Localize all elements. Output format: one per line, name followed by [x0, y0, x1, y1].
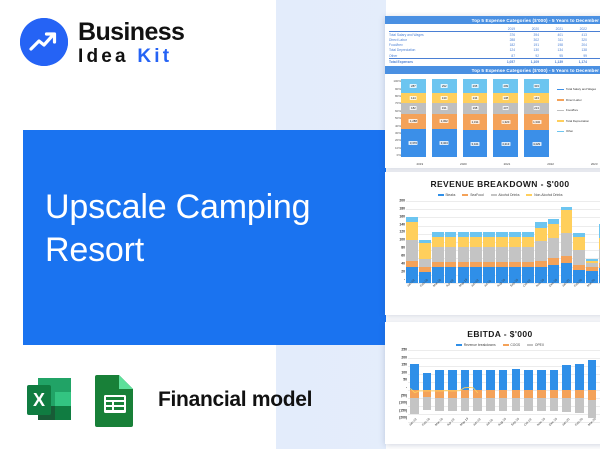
ebitda-chart-bars [408, 350, 600, 422]
legend-label: Non-Alcohol Drinks [534, 193, 562, 197]
ebitda-card[interactable]: EBITDA - $'000 Revenue breakdownsCOGSOPE… [385, 322, 600, 444]
table-row: Total Expenses1,0571,1091,1391,1741,220 [389, 59, 600, 65]
stacked-bar [406, 201, 418, 283]
axis-tick: 2019 [401, 162, 439, 166]
poster-canvas: Business Idea Kit Upscale Camping Resort… [0, 0, 600, 449]
stacked-bar [588, 350, 597, 422]
stacked-bar: 2921301911,3023,404 [432, 79, 457, 157]
bar-value-label: 198 [472, 106, 479, 110]
stacked-bar: 2991382071,3204,213 [493, 79, 518, 157]
axis-tick: 250 [389, 349, 407, 352]
brand-line-business: Business [78, 20, 184, 45]
stacked-bar [486, 350, 495, 422]
bar-value-label: 292 [441, 84, 448, 88]
stacked-bar [470, 201, 482, 283]
bar-value-label: 1,332 [532, 120, 541, 124]
bar-value-label: 295 [472, 84, 479, 88]
bar-value-label: 287 [410, 84, 417, 88]
expense-categories-card[interactable]: Top 5 Expense Categories ($'000) - 5 Yea… [385, 16, 600, 168]
axis-tick: 180 [389, 207, 405, 210]
legend-label: SeaFood [470, 193, 483, 197]
brand-kit-text: Kit [137, 46, 172, 67]
legend-label: Other [566, 129, 573, 133]
legend-item: Other [557, 129, 600, 133]
financial-model-label: Financial model [158, 388, 312, 412]
expense-chart-x-axis: 20192020202120222023 [401, 162, 600, 166]
legend-swatch [557, 89, 564, 90]
legend-swatch [491, 194, 497, 196]
stacked-bar [473, 350, 482, 422]
legend-label: OPEX [535, 343, 544, 347]
legend-swatch [526, 194, 532, 196]
page-title: Upscale Camping Resort [45, 186, 385, 272]
axis-tick: 160 [389, 215, 405, 218]
axis-tick: - [389, 278, 405, 281]
legend-item: COGS [503, 343, 521, 347]
axis-tick: 30% [387, 131, 401, 135]
revenue-chart-bars [406, 201, 600, 283]
axis-tick: 2020 [445, 162, 483, 166]
axis-tick: 2021 [488, 162, 526, 166]
stacked-bar [512, 350, 521, 422]
legend-swatch [557, 131, 564, 132]
legend-item: Total Salary and Wages [557, 87, 600, 91]
ebitda-chart-legend: Revenue breakdownsCOGSOPEX [385, 339, 600, 347]
stacked-bar [586, 201, 598, 283]
axis-tick: 0% [387, 153, 401, 157]
stacked-bar [524, 350, 533, 422]
stacked-bar [509, 201, 521, 283]
bar-value-label: 299 [502, 84, 509, 88]
legend-swatch [527, 344, 533, 346]
axis-tick: 40% [387, 124, 401, 128]
axis-tick: 60% [387, 109, 401, 113]
axis-tick: - [389, 387, 407, 390]
legend-swatch [557, 99, 564, 100]
legend-item: Revenue breakdowns [456, 343, 496, 347]
axis-tick: 100% [387, 79, 401, 83]
axis-tick: 90% [387, 87, 401, 91]
axis-tick: 20% [387, 138, 401, 142]
legend-label: Alcohol Drinks [498, 193, 519, 197]
bar-value-label: 138 [502, 96, 509, 100]
axis-tick: (200) [389, 417, 407, 420]
brand-wordmark: Business Idea Kit [78, 18, 184, 66]
axis-tick: 10% [387, 146, 401, 150]
legend-item: Alcohol Drinks [491, 193, 520, 197]
legend-item: Non-Alcohol Drinks [526, 193, 562, 197]
revenue-chart-title: REVENUE BREAKDOWN - $'000 [385, 172, 600, 189]
legend-item: Direct Labor [557, 98, 600, 102]
expense-table: 20192020202120222023Total Salary and Wag… [385, 24, 600, 66]
legend-label: Food/bev [566, 108, 578, 112]
legend-swatch [557, 110, 564, 111]
stacked-bar [496, 201, 508, 283]
bar-value-label: 182 [410, 106, 417, 110]
revenue-chart-y-axis: 20018016014012010080604020- [389, 201, 405, 283]
stacked-bar [419, 201, 431, 283]
stacked-bar [537, 350, 546, 422]
stacked-bar [562, 350, 571, 422]
bar-value-label: 1,311 [471, 120, 480, 124]
legend-label: Revenue breakdowns [464, 343, 496, 347]
brand-line-idea-kit: Idea Kit [78, 47, 184, 66]
axis-tick: 60 [389, 255, 405, 258]
stacked-bar [548, 201, 560, 283]
revenue-breakdown-card[interactable]: REVENUE BREAKDOWN - $'000 SteaksSeaFoodA… [385, 172, 600, 315]
axis-tick: 100 [389, 239, 405, 242]
revenue-chart-legend: SteaksSeaFoodAlcohol DrinksNon-Alcohol D… [385, 189, 600, 197]
bar-value-label: 1,288 [409, 119, 418, 123]
bar-value-label: 207 [502, 106, 509, 110]
legend-swatch [456, 344, 462, 346]
stacked-bar [550, 350, 559, 422]
axis-tick: (100) [389, 402, 407, 405]
stacked-bar [435, 350, 444, 422]
axis-tick: 2023 [575, 162, 600, 166]
stacked-bar: 2951341981,3113,441 [463, 79, 488, 157]
svg-text:X: X [33, 390, 45, 410]
stacked-bar [410, 350, 419, 422]
axis-tick: 20 [389, 270, 405, 273]
bar-value-label: 130 [441, 96, 448, 100]
brand-logo: Business Idea Kit [20, 18, 184, 66]
stacked-bar [575, 350, 584, 422]
axis-tick: 100 [389, 371, 407, 374]
stacked-bar [535, 201, 547, 283]
legend-swatch [557, 120, 564, 121]
axis-tick: 80 [389, 247, 405, 250]
bar-value-label: 143 [533, 96, 540, 100]
stacked-bar [448, 350, 457, 422]
legend-item: Steaks [438, 193, 456, 197]
expense-stacked-chart: 100%90%80%70%60%50%40%30%20%10%0% 287124… [385, 75, 600, 167]
bar-value-label: 124 [410, 96, 417, 100]
axis-tick: 40 [389, 262, 405, 265]
bar-value-label: 4,429 [532, 142, 541, 146]
axis-tick: 200 [389, 200, 405, 203]
axis-tick: 200 [389, 356, 407, 359]
legend-label: Direct Labor [566, 98, 582, 102]
ebitda-chart-y-axis: 25020015010050-(50)(100)(150)(200) [389, 350, 407, 422]
format-availability-row: X Financial model [22, 372, 312, 428]
bar-value-label: 3,376 [409, 141, 418, 145]
axis-tick: (50) [389, 394, 407, 397]
bar-value-label: 191 [441, 106, 448, 110]
expense-chart-plot: 2871241821,2883,3762921301911,3023,40429… [401, 79, 549, 157]
axis-tick: 70% [387, 101, 401, 105]
axis-tick: 120 [389, 231, 405, 234]
legend-label: Steaks [445, 193, 455, 197]
stacked-bar [458, 201, 470, 283]
axis-tick: 2022 [532, 162, 570, 166]
expense-chart-title: Top 5 Expense Categories ($'000) - 5 Yea… [385, 66, 600, 74]
bar-value-label: 4,213 [501, 142, 510, 146]
ebitda-chart-title: EBITDA - $'000 [385, 322, 600, 339]
bar-value-label: 1,320 [501, 120, 510, 124]
stacked-bar [499, 350, 508, 422]
bar-value-label: 213 [533, 106, 540, 110]
growth-arrow-circle-icon [20, 18, 68, 66]
stacked-bar [423, 350, 432, 422]
legend-label: COGS [510, 343, 520, 347]
stacked-bar: 3031432131,3324,429 [524, 79, 549, 157]
expense-chart-y-axis: 100%90%80%70%60%50%40%30%20%10%0% [387, 79, 401, 157]
brand-idea-text: Idea [78, 46, 129, 67]
axis-tick: 50 [389, 379, 407, 382]
legend-item: OPEX [527, 343, 544, 347]
expense-table-title: Top 5 Expense Categories ($'000) - 5 Yea… [385, 16, 600, 24]
revenue-chart-x-axis: Jan-19Feb-19Mar-19Apr-19May-19Jun-19Jul-… [406, 283, 600, 305]
stacked-bar [461, 350, 470, 422]
stacked-bar [522, 201, 534, 283]
axis-tick: (150) [389, 409, 407, 412]
revenue-chart-plot: 20018016014012010080604020- [389, 201, 600, 283]
microsoft-excel-icon: X [22, 372, 78, 428]
stacked-bar [483, 201, 495, 283]
axis-tick: 150 [389, 364, 407, 367]
bar-value-label: 3,441 [470, 142, 479, 146]
legend-swatch [462, 194, 468, 196]
legend-swatch [503, 344, 509, 346]
legend-item: Food/bev [557, 108, 600, 112]
bar-value-label: 3,404 [440, 141, 449, 145]
stacked-bar: 2871241821,2883,376 [401, 79, 426, 157]
bar-value-label: 1,302 [440, 119, 449, 123]
legend-label: Total Depreciation [566, 119, 589, 123]
stacked-bar [561, 201, 573, 283]
bar-value-label: 303 [533, 84, 540, 88]
legend-item: Total Depreciation [557, 119, 600, 123]
axis-tick: 80% [387, 94, 401, 98]
stacked-bar [445, 201, 457, 283]
google-sheets-icon [91, 372, 139, 428]
legend-item: SeaFood [462, 193, 483, 197]
axis-tick: 50% [387, 116, 401, 120]
expense-chart-legend: Total Salary and WagesDirect LaborFood/b… [557, 87, 600, 133]
bar-value-label: 134 [472, 96, 479, 100]
ebitda-chart-plot: 25020015010050-(50)(100)(150)(200) [389, 350, 600, 422]
ebitda-chart-x-axis: Jan-19Feb-19Mar-19Apr-19May-19Jun-19Jul-… [408, 422, 600, 444]
legend-swatch [438, 194, 444, 196]
stacked-bar [432, 201, 444, 283]
axis-tick: 140 [389, 223, 405, 226]
stacked-bar [573, 201, 585, 283]
legend-label: Total Salary and Wages [566, 87, 596, 91]
